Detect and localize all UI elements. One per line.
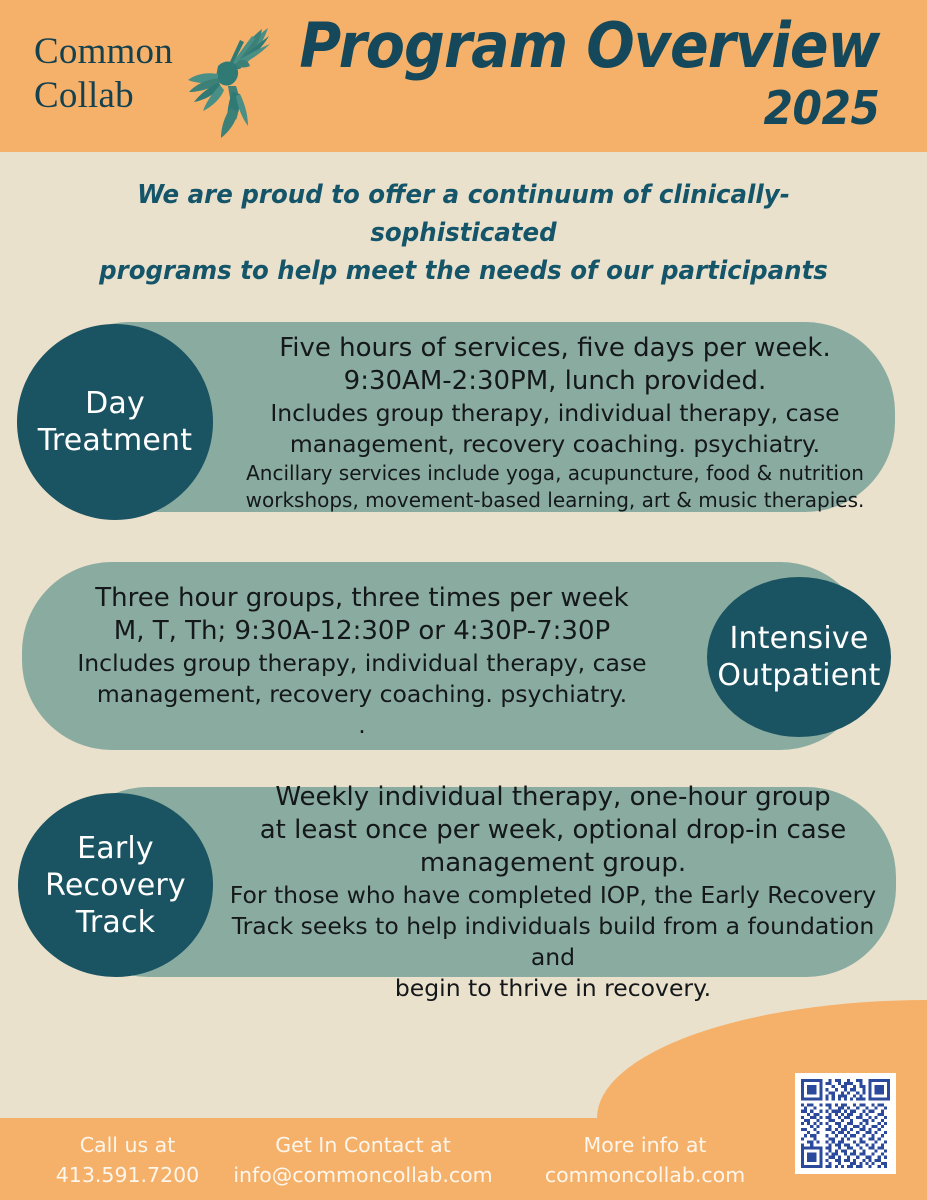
program-description: Weekly individual therapy, one-hour grou… xyxy=(213,781,893,1004)
program-badge-line1: Day xyxy=(38,385,192,422)
program-line: Three hour groups, three times per week xyxy=(32,582,692,615)
program-badge-line1: Early xyxy=(45,830,186,867)
brand-logo-line2: Collab xyxy=(34,74,173,118)
subtitle-line2: programs to help meet the needs of our p… xyxy=(67,252,861,290)
program-line: For those who have completed IOP, the Ea… xyxy=(213,880,893,911)
footer-contact-email: Get In Contact at info@commoncollab.com xyxy=(218,1130,508,1190)
program-line: management, recovery coaching. psychiatr… xyxy=(215,429,895,460)
page-title: Program Overview 2025 xyxy=(249,10,879,134)
qr-code-icon[interactable] xyxy=(795,1073,896,1174)
footer-value[interactable]: info@commoncollab.com xyxy=(218,1160,508,1190)
page-title-main: Program Overview xyxy=(299,10,879,82)
program-badge-day-treatment: Day Treatment xyxy=(17,324,213,520)
subtitle: We are proud to offer a continuum of cli… xyxy=(67,176,861,290)
subtitle-line1: We are proud to offer a continuum of cli… xyxy=(67,176,861,252)
program-line: Weekly individual therapy, one-hour grou… xyxy=(213,781,893,814)
program-line: Track seeks to help individuals build fr… xyxy=(213,911,893,973)
brand-logo-line1: Common xyxy=(34,30,173,74)
program-badge-line2: Outpatient xyxy=(717,657,880,694)
program-line: . xyxy=(32,710,692,741)
program-line: 9:30AM-2:30PM, lunch provided. xyxy=(215,365,895,398)
footer-value[interactable]: 413.591.7200 xyxy=(20,1160,235,1190)
program-line: begin to thrive in recovery. xyxy=(213,973,893,1004)
footer-label: Call us at xyxy=(20,1130,235,1160)
program-badge-early-recovery-track: Early Recovery Track xyxy=(18,793,213,977)
header-band: Common Collab xyxy=(0,0,927,152)
program-description: Three hour groups, three times per week … xyxy=(32,582,692,741)
footer-label: More info at xyxy=(520,1130,770,1160)
brand-logo-text: Common Collab xyxy=(34,30,173,118)
brand-logo: Common Collab xyxy=(34,18,264,138)
program-badge-line2: Treatment xyxy=(38,422,192,459)
footer-label: Get In Contact at xyxy=(218,1130,508,1160)
program-badge-line3: Track xyxy=(45,904,186,941)
program-line: Includes group therapy, individual thera… xyxy=(32,648,692,679)
poster-page: Common Collab xyxy=(0,0,927,1200)
program-line: workshops, movement-based learning, art … xyxy=(215,487,895,514)
footer-contact-phone: Call us at 413.591.7200 xyxy=(20,1130,235,1190)
program-badge-intensive-outpatient: Intensive Outpatient xyxy=(707,577,891,737)
program-badge-line1: Intensive xyxy=(717,620,880,657)
program-line: at least once per week, optional drop-in… xyxy=(213,814,893,847)
program-line: Ancillary services include yoga, acupunc… xyxy=(215,460,895,487)
program-line: management group. xyxy=(213,847,893,880)
program-line: Five hours of services, five days per we… xyxy=(215,332,895,365)
footer-contact-website: More info at commoncollab.com xyxy=(520,1130,770,1190)
program-description: Five hours of services, five days per we… xyxy=(215,332,895,514)
program-badge-line2: Recovery xyxy=(45,867,186,904)
program-line: Includes group therapy, individual thera… xyxy=(215,398,895,429)
program-line: M, T, Th; 9:30A-12:30P or 4:30P-7:30P xyxy=(32,615,692,648)
program-line: management, recovery coaching. psychiatr… xyxy=(32,679,692,710)
page-title-year: 2025 xyxy=(299,82,879,134)
footer-value[interactable]: commoncollab.com xyxy=(520,1160,770,1190)
